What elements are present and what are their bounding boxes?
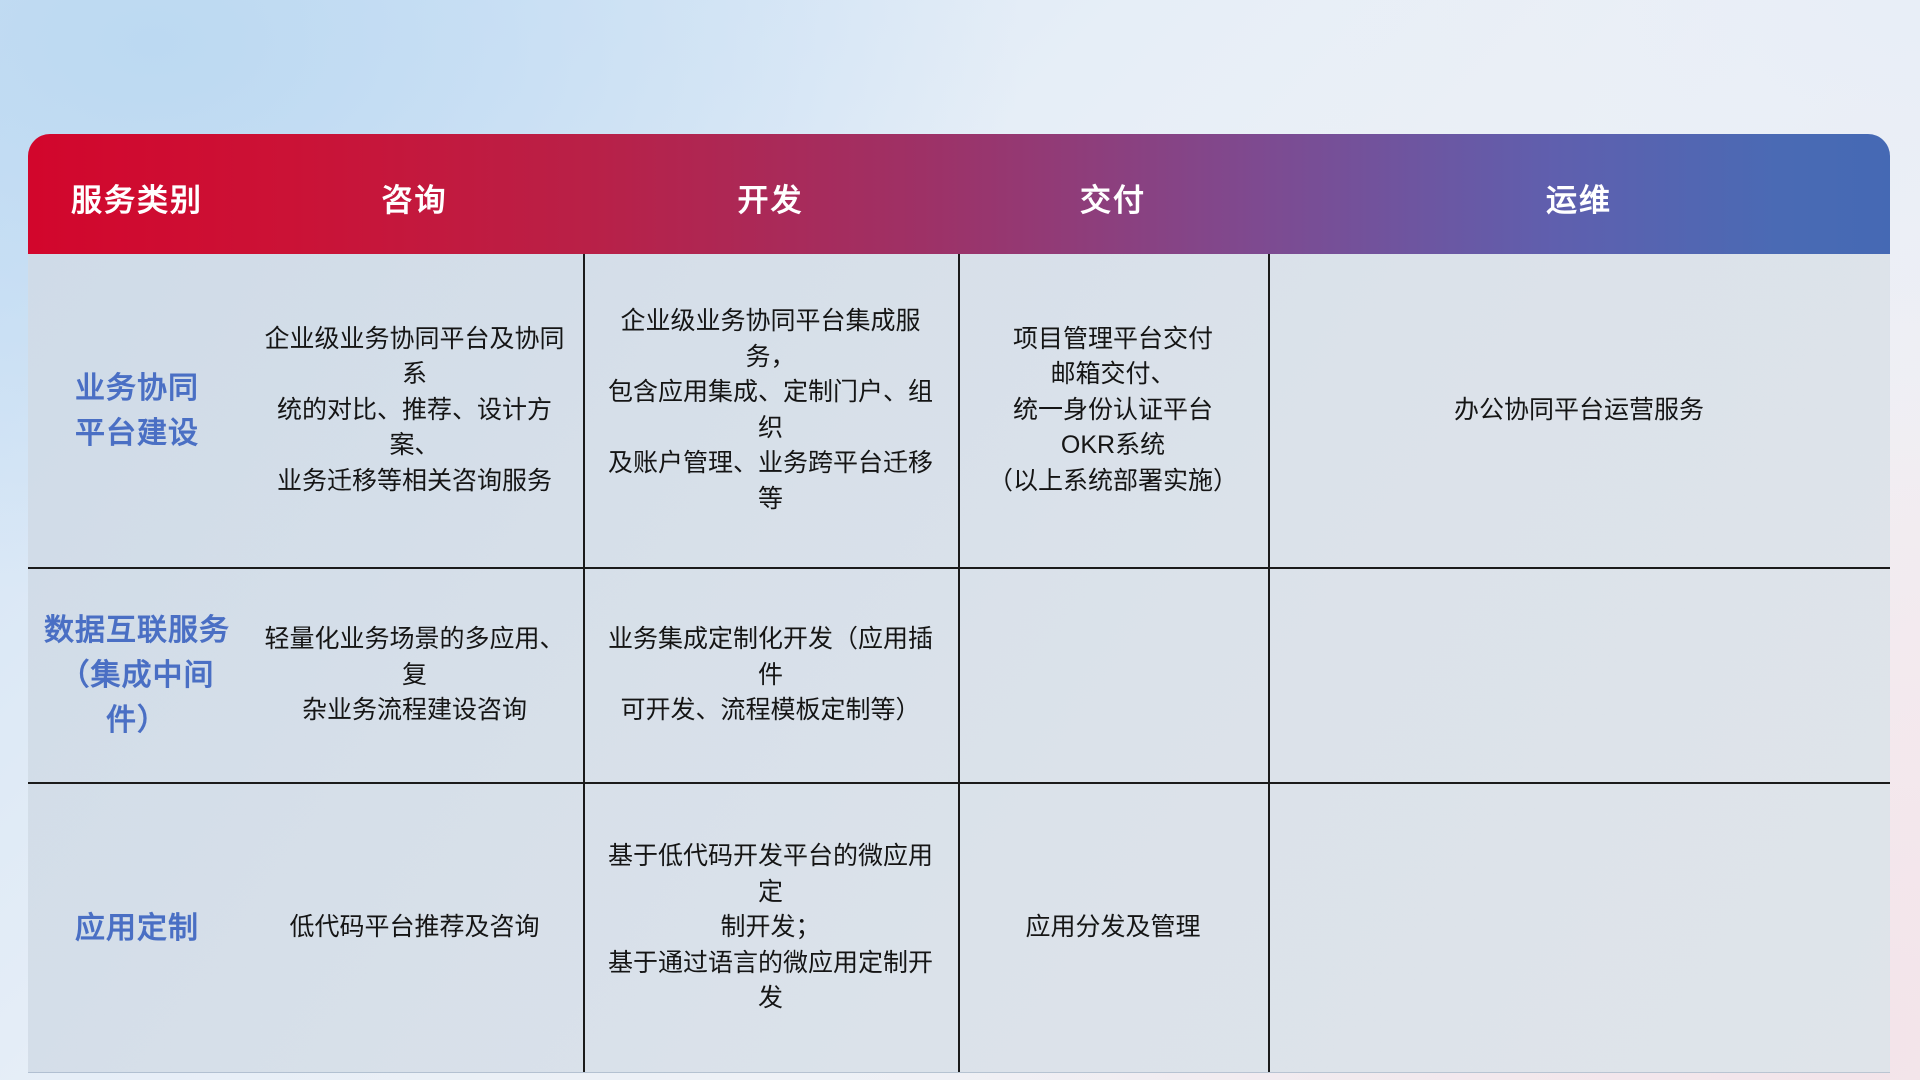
cell-consulting: 轻量化业务场景的多应用、复 杂业务流程建设咨询 [246, 569, 583, 782]
cell-consulting-text: 企业级业务协同平台及协同系 统的对比、推荐、设计方案、 业务迁移等相关咨询服务 [262, 322, 567, 500]
table-header-row: 服务类别 咨询 开发 交付 运维 [28, 134, 1890, 254]
row-label-text: 业务协同 平台建设 [75, 366, 199, 456]
cell-development-text: 业务集成定制化开发（应用插件 可开发、流程模板定制等） [599, 622, 942, 729]
cell-operations [1268, 784, 1890, 1072]
cell-delivery: 项目管理平台交付 邮箱交付、 统一身份认证平台 OKR系统 （以上系统部署实施） [958, 254, 1268, 567]
column-header-category-label: 服务类别 [71, 175, 203, 220]
cell-development-text: 企业级业务协同平台集成服务， 包含应用集成、定制门户、组织 及账户管理、业务跨平… [599, 304, 942, 517]
cell-delivery-text: 应用分发及管理 [1025, 910, 1200, 946]
column-header-category: 服务类别 [28, 134, 246, 254]
cell-development: 基于低代码开发平台的微应用定 制开发； 基于通过语言的微应用定制开发 [583, 784, 958, 1072]
column-header-development: 开发 [583, 134, 958, 254]
cell-consulting: 企业级业务协同平台及协同系 统的对比、推荐、设计方案、 业务迁移等相关咨询服务 [246, 254, 583, 567]
table-row: 应用定制 低代码平台推荐及咨询 基于低代码开发平台的微应用定 制开发； 基于通过… [28, 782, 1890, 1072]
cell-development-text: 基于低代码开发平台的微应用定 制开发； 基于通过语言的微应用定制开发 [599, 839, 942, 1017]
row-label-cell: 数据互联服务 （集成中间件） [28, 569, 246, 782]
row-label-text: 应用定制 [75, 906, 199, 951]
column-header-delivery-label: 交付 [1080, 175, 1146, 220]
column-header-operations: 运维 [1268, 134, 1890, 254]
table-body: 业务协同 平台建设 企业级业务协同平台及协同系 统的对比、推荐、设计方案、 业务… [28, 254, 1890, 1073]
service-matrix-table: 服务类别 咨询 开发 交付 运维 业务协同 平台建设 企业级业务协同平台及协同系… [28, 134, 1890, 952]
table-row: 业务协同 平台建设 企业级业务协同平台及协同系 统的对比、推荐、设计方案、 业务… [28, 254, 1890, 567]
row-label-cell: 应用定制 [28, 784, 246, 1072]
cell-operations-text: 办公协同平台运营服务 [1454, 393, 1704, 429]
column-header-delivery: 交付 [958, 134, 1268, 254]
cell-delivery: 应用分发及管理 [958, 784, 1268, 1072]
table-row: 数据互联服务 （集成中间件） 轻量化业务场景的多应用、复 杂业务流程建设咨询 业… [28, 567, 1890, 782]
cell-consulting-text: 低代码平台推荐及咨询 [289, 910, 539, 946]
column-header-operations-label: 运维 [1546, 175, 1612, 220]
cell-consulting: 低代码平台推荐及咨询 [246, 784, 583, 1072]
cell-delivery [958, 569, 1268, 782]
cell-development: 业务集成定制化开发（应用插件 可开发、流程模板定制等） [583, 569, 958, 782]
column-header-development-label: 开发 [738, 175, 804, 220]
column-header-consulting: 咨询 [246, 134, 583, 254]
slide-canvas: 服务类别 咨询 开发 交付 运维 业务协同 平台建设 企业级业务协同平台及协同系… [0, 0, 1920, 1080]
cell-development: 企业级业务协同平台集成服务， 包含应用集成、定制门户、组织 及账户管理、业务跨平… [583, 254, 958, 567]
cell-operations [1268, 569, 1890, 782]
cell-operations: 办公协同平台运营服务 [1268, 254, 1890, 567]
row-label-cell: 业务协同 平台建设 [28, 254, 246, 567]
cell-delivery-text: 项目管理平台交付 邮箱交付、 统一身份认证平台 OKR系统 （以上系统部署实施） [988, 322, 1238, 500]
column-header-consulting-label: 咨询 [382, 175, 448, 220]
row-label-text: 数据互联服务 （集成中间件） [44, 608, 230, 743]
cell-consulting-text: 轻量化业务场景的多应用、复 杂业务流程建设咨询 [262, 622, 567, 729]
